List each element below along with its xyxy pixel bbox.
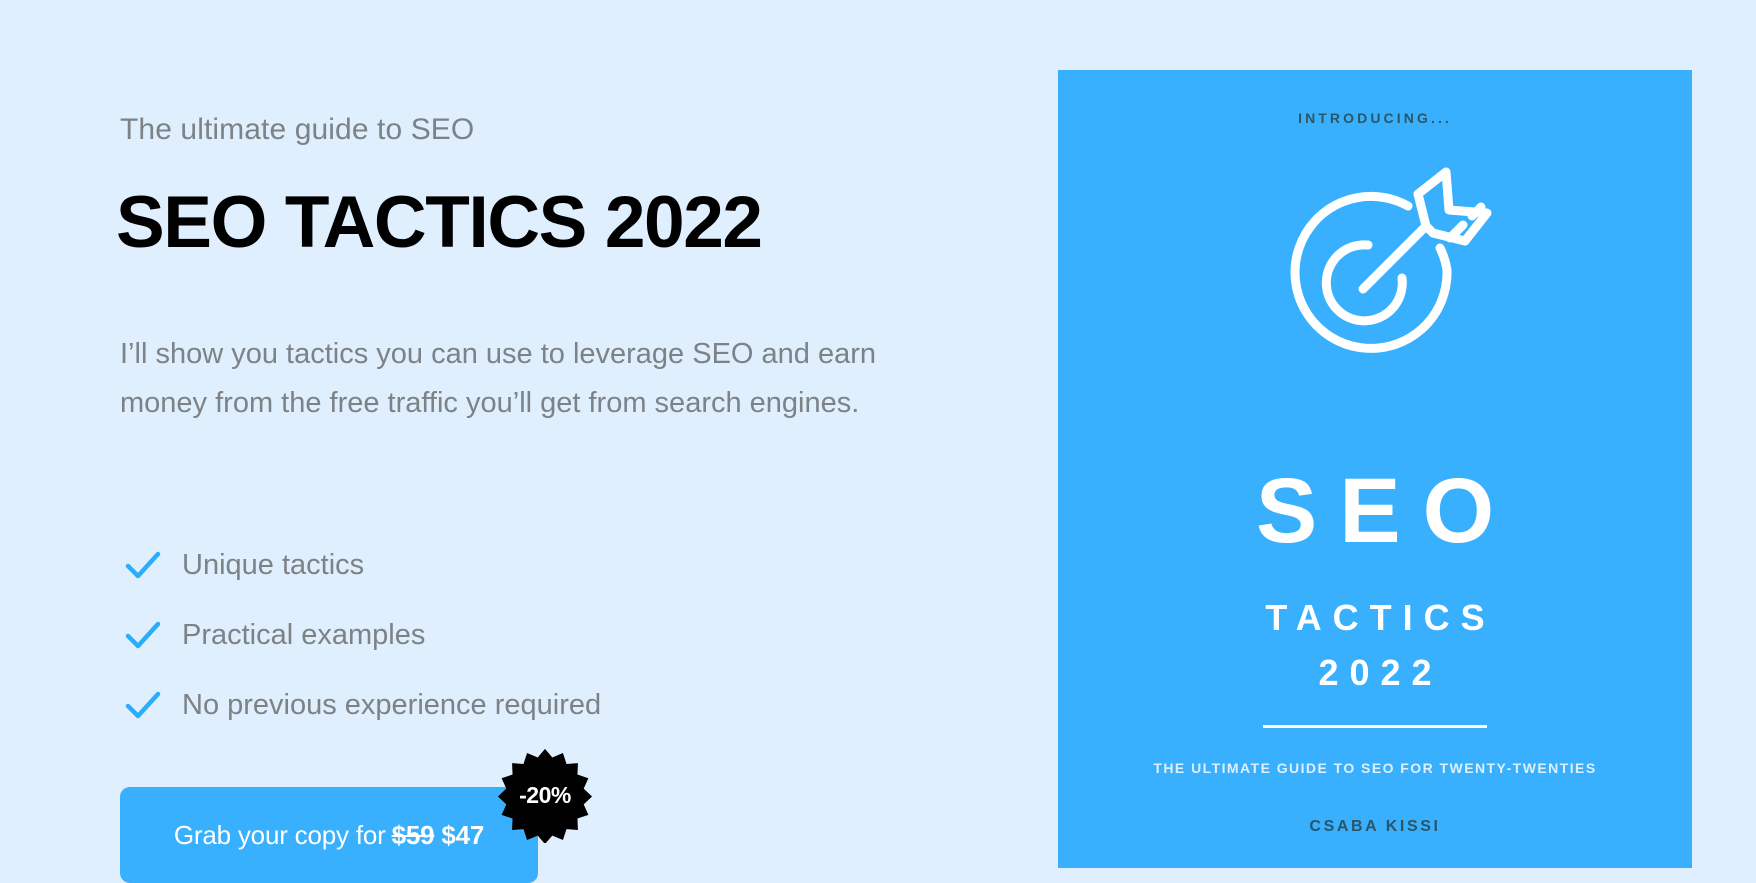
book-cover: INTRODUCING... SEO TACTICS 2022 THE ULTI… [1058,70,1692,868]
page-title: SEO TACTICS 2022 [116,186,762,259]
cta-old-price: $59 [392,820,435,851]
discount-badge-label: -20% [497,747,593,843]
hero-text-column: The ultimate guide to SEO SEO TACTICS 20… [120,0,950,883]
check-icon [120,682,166,728]
cover-subtitle: TACTICS [1058,597,1692,639]
list-item-label: No previous experience required [182,689,601,722]
check-icon [120,542,166,588]
cover-author: CSABA KISSI [1058,818,1692,836]
cta-area: Grab your copy for $59 $47 -20% [120,787,740,883]
list-item-label: Practical examples [182,619,425,652]
cta-prefix-label: Grab your copy for [174,820,386,851]
hero-subcopy: I’ll show you tactics you can use to lev… [120,330,910,428]
list-item: Unique tactics [120,530,601,600]
cover-tagline: THE ULTIMATE GUIDE TO SEO FOR TWENTY-TWE… [1058,760,1692,776]
cover-title: SEO [1058,465,1692,557]
list-item-label: Unique tactics [182,549,364,582]
cta-new-price: $47 [441,820,484,851]
feature-list: Unique tactics Practical examples No pre… [120,530,601,740]
list-item: No previous experience required [120,670,601,740]
grab-copy-button[interactable]: Grab your copy for $59 $47 [120,787,538,883]
target-with-arrow-icon [1250,158,1500,408]
list-item: Practical examples [120,600,601,670]
check-icon [120,612,166,658]
hero-eyebrow: The ultimate guide to SEO [120,113,474,147]
cover-introducing-label: INTRODUCING... [1058,110,1692,126]
cover-year: 2022 [1058,652,1692,694]
cover-divider [1263,725,1487,728]
discount-badge: -20% [497,747,593,843]
